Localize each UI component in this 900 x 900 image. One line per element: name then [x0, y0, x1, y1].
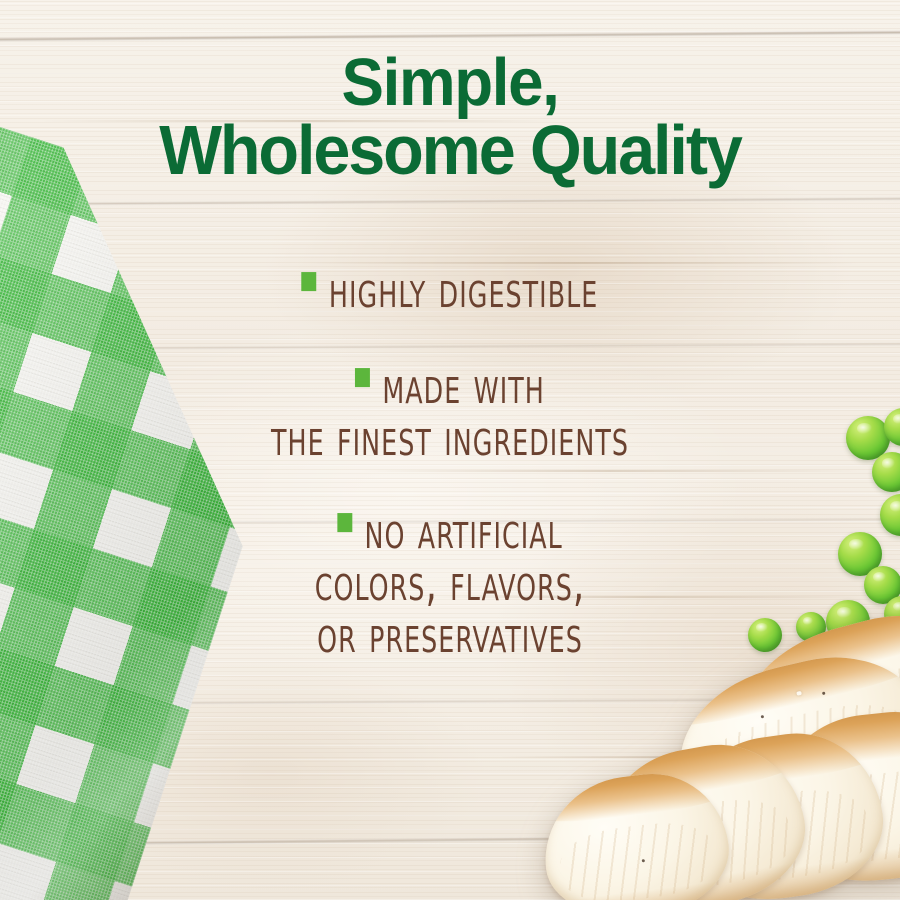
bullet-line: No Artificial	[212, 501, 687, 559]
headline-line-2: Wholesome Quality	[23, 116, 878, 185]
list-item: No Artificial Colors, Flavors, Or Preser…	[180, 505, 720, 662]
feature-list: Highly Digestible Made With The Finest I…	[180, 264, 720, 681]
list-item: Made With The Finest Ingredients	[180, 360, 720, 464]
bullet-text: Or Preservatives	[212, 606, 687, 664]
headline-line-1: Simple,	[23, 50, 878, 116]
page-title: Simple, Wholesome Quality	[23, 50, 878, 184]
product-banner: Simple, Wholesome Quality Highly Digesti…	[0, 0, 900, 900]
green-square-bullet-icon	[302, 272, 317, 291]
green-square-bullet-icon	[337, 513, 352, 532]
list-item: Highly Digestible	[180, 264, 720, 316]
bullet-text: Colors, Flavors,	[212, 554, 687, 612]
bullet-text: Highly Digestible	[329, 260, 598, 319]
bullet-text: The Finest Ingredients	[212, 409, 687, 467]
bullet-line: Made With	[212, 357, 687, 415]
green-square-bullet-icon	[355, 368, 370, 387]
bullet-text: No Artificial	[364, 500, 562, 559]
chicken-slice	[536, 765, 736, 900]
bullet-line: Highly Digestible	[212, 261, 687, 319]
bullet-text: Made With	[382, 356, 545, 415]
